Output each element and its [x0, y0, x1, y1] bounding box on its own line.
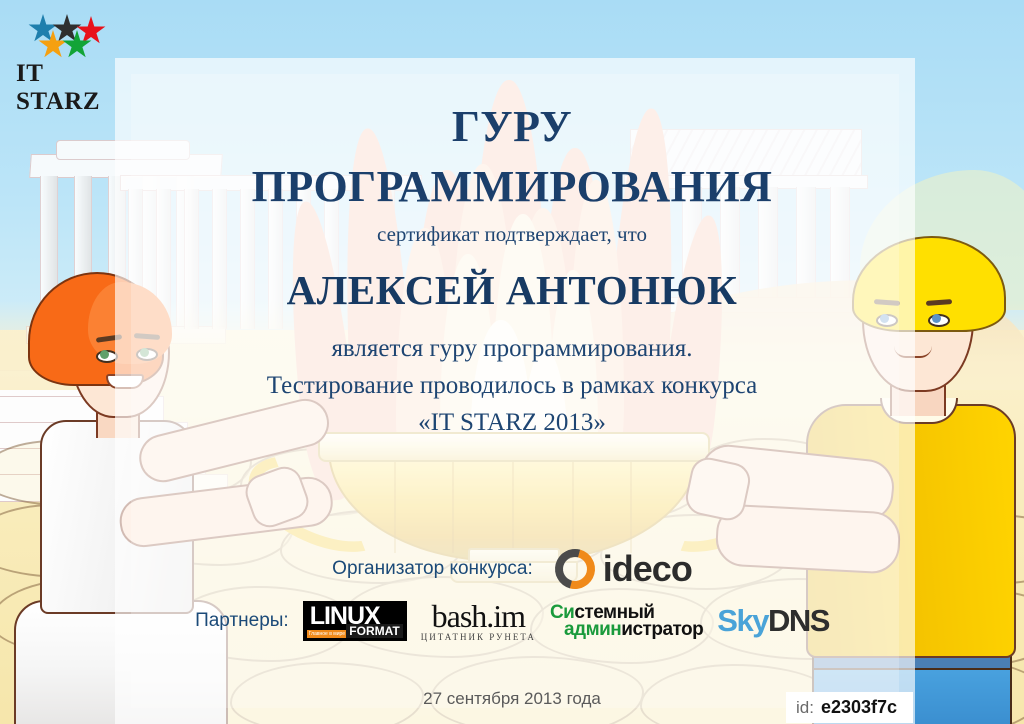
linux-format-sub: FORMAT: [346, 624, 402, 638]
certificate-canvas: IT STARZ ГУРУ ПРОГРАММИРОВАНИЯ сертифика…: [0, 0, 1024, 724]
linux-format-logo: LINUX Главное в мире Linux FORMAT: [303, 601, 407, 641]
title-line-1: ГУРУ: [452, 102, 572, 151]
certificate-content: ГУРУ ПРОГРАММИРОВАНИЯ сертификат подтвер…: [0, 0, 1024, 724]
ideco-logo: ideco: [555, 548, 692, 590]
partners-label: Партнеры:: [195, 610, 289, 632]
sysadmin-row2-black: истратор: [621, 619, 703, 640]
body-line-3: «IT STARZ 2013»: [0, 404, 1024, 441]
certificate-title: ГУРУ ПРОГРАММИРОВАНИЯ: [0, 100, 1024, 214]
sysadmin-row2-green: админ: [564, 619, 621, 640]
ideco-ring-icon: [547, 542, 602, 597]
sysadmin-row-2: администратор: [564, 621, 703, 638]
body-line-2: Тестирование проводилось в рамках конкур…: [0, 367, 1024, 404]
certificate-body: является гуру программирования. Тестиров…: [0, 330, 1024, 441]
bash-im-logo: bash.im ЦИТАТНИК РУНЕТА: [421, 600, 536, 642]
id-badge: id: e2303f7c: [786, 692, 913, 723]
bash-im-main: bash.im: [432, 600, 525, 632]
title-line-2: ПРОГРАММИРОВАНИЯ: [0, 160, 1024, 214]
id-label: id:: [796, 698, 814, 718]
body-line-1: является гуру программирования.: [0, 330, 1024, 367]
organizer-row: Организатор конкурса: ideco: [0, 548, 1024, 590]
skydns-part-1: Sky: [717, 603, 768, 638]
skydns-logo: SkyDNS: [717, 603, 829, 639]
organizer-label: Организатор конкурса:: [332, 558, 533, 580]
skydns-part-2: DNS: [768, 603, 829, 638]
id-value: e2303f7c: [821, 697, 897, 718]
bash-im-sub: ЦИТАТНИК РУНЕТА: [421, 633, 536, 642]
partners-row: Партнеры: LINUX Главное в мире Linux FOR…: [0, 600, 1024, 642]
recipient-name: АЛЕКСЕЙ АНТОНЮК: [0, 266, 1024, 314]
sysadmin-logo: Системный администратор: [550, 604, 703, 639]
ideco-wordmark: ideco: [603, 548, 692, 590]
certificate-subtitle: сертификат подтверждает, что: [0, 222, 1024, 247]
